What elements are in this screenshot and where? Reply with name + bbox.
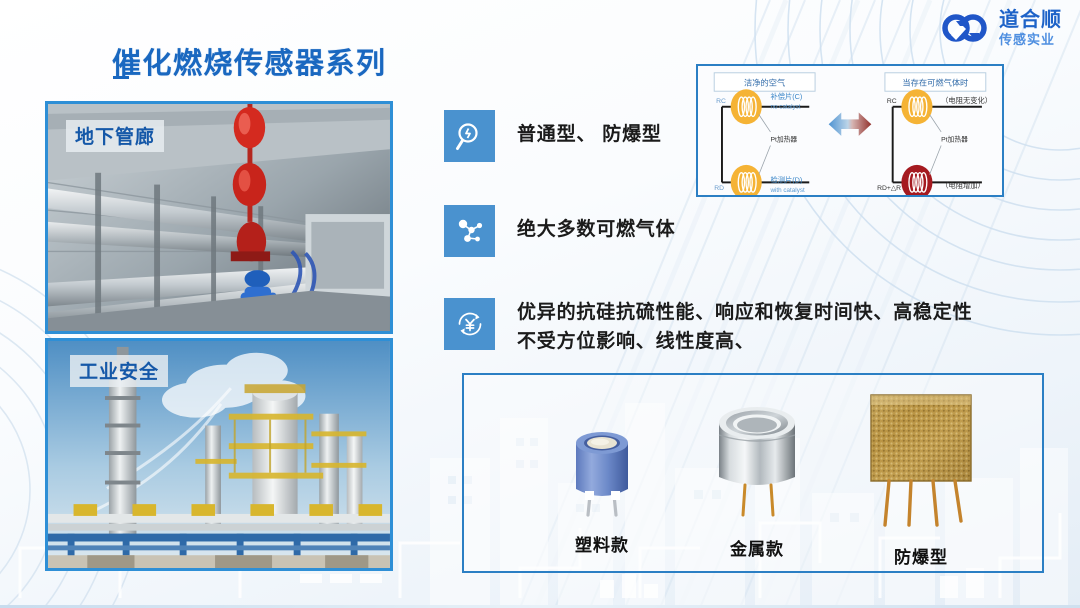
metal-sensor-icon <box>701 397 813 519</box>
diagram-right-header: 当存在可燃气体时 <box>902 77 968 87</box>
diagram-left-header: 洁净的空气 <box>744 77 785 87</box>
product-label-plastic: 塑料款 <box>522 531 682 556</box>
diagram-left-bottom-label1: 检测片(D) <box>770 175 802 184</box>
feature-text-type: 普通型、 防爆型 <box>517 110 662 149</box>
product-label-metal: 金属款 <box>672 535 842 560</box>
logo-company-name: 道合顺 <box>999 10 1062 30</box>
yuan-cycle-icon <box>444 298 495 350</box>
feature-text-performance: 优异的抗硅抗硫性能、响应和恢复时间快、高稳定性 不受方位影响、线性度高、 <box>517 298 972 357</box>
slide-root: 道合顺 传感实业 催化燃烧传感器系列 <box>0 0 1080 608</box>
photo-industrial-safety: 工业安全 <box>45 338 393 571</box>
feature-text-performance-line2: 不受方位影响、线性度高、 <box>517 327 972 356</box>
company-logo: 道合顺 传感实业 <box>939 8 1062 48</box>
photo-label-industrial: 工业安全 <box>70 355 168 387</box>
diagram-right-top-label: （电阻无变化） <box>941 96 992 105</box>
diagram-left-top-label1: 补偿片(C) <box>770 92 802 101</box>
diagram-left-rd: RD <box>714 185 724 192</box>
title-underline <box>113 76 129 79</box>
photo-label-underground: 地下管廊 <box>66 120 164 152</box>
molecule-icon <box>444 205 495 257</box>
feature-row-gas: 绝大多数可燃气体 <box>444 205 675 257</box>
interlocking-rings-logo-icon <box>939 8 991 48</box>
diagram-left-rc: RC <box>716 98 726 105</box>
product-label-explosion-proof: 防爆型 <box>826 543 1016 568</box>
product-metal: 金属款 <box>672 397 842 560</box>
diagram-left-top-label2: no catalyst <box>770 104 800 111</box>
diagram-right-bottom-label: （电阻增加） <box>941 181 985 190</box>
diagram-right-rc: RC <box>887 98 897 105</box>
explosion-proof-sensor-icon <box>855 387 987 529</box>
diagram-right-heater-label: Pt加热器 <box>941 135 968 144</box>
diagram-svg: 洁净的空气 RC RD 补偿片(C) no catalyst <box>698 66 1002 195</box>
feature-row-performance: 优异的抗硅抗硫性能、响应和恢复时间快、高稳定性 不受方位影响、线性度高、 <box>444 298 972 357</box>
diagram-right-rd: RD+△R <box>877 185 901 192</box>
logo-company-tagline: 传感实业 <box>999 33 1062 46</box>
products-panel: 塑料款 <box>462 373 1044 573</box>
catalytic-principle-diagram: 洁净的空气 RC RD 补偿片(C) no catalyst <box>696 64 1004 197</box>
magnifier-sensor-icon <box>444 110 495 162</box>
photo-underground-pipe-gallery: 地下管廊 <box>45 101 393 334</box>
plastic-sensor-icon <box>550 413 654 519</box>
feature-row-type: 普通型、 防爆型 <box>444 110 662 162</box>
diagram-left-heater-label: Pt加热器 <box>770 135 797 144</box>
page-title: 催化燃烧传感器系列 <box>112 40 387 82</box>
product-plastic: 塑料款 <box>522 413 682 556</box>
diagram-left-bottom-label2: with catalyst <box>769 187 805 194</box>
product-explosion-proof: 防爆型 <box>826 387 1016 568</box>
feature-text-gas: 绝大多数可燃气体 <box>517 205 675 244</box>
feature-text-performance-line1: 优异的抗硅抗硫性能、响应和恢复时间快、高稳定性 <box>517 298 972 327</box>
